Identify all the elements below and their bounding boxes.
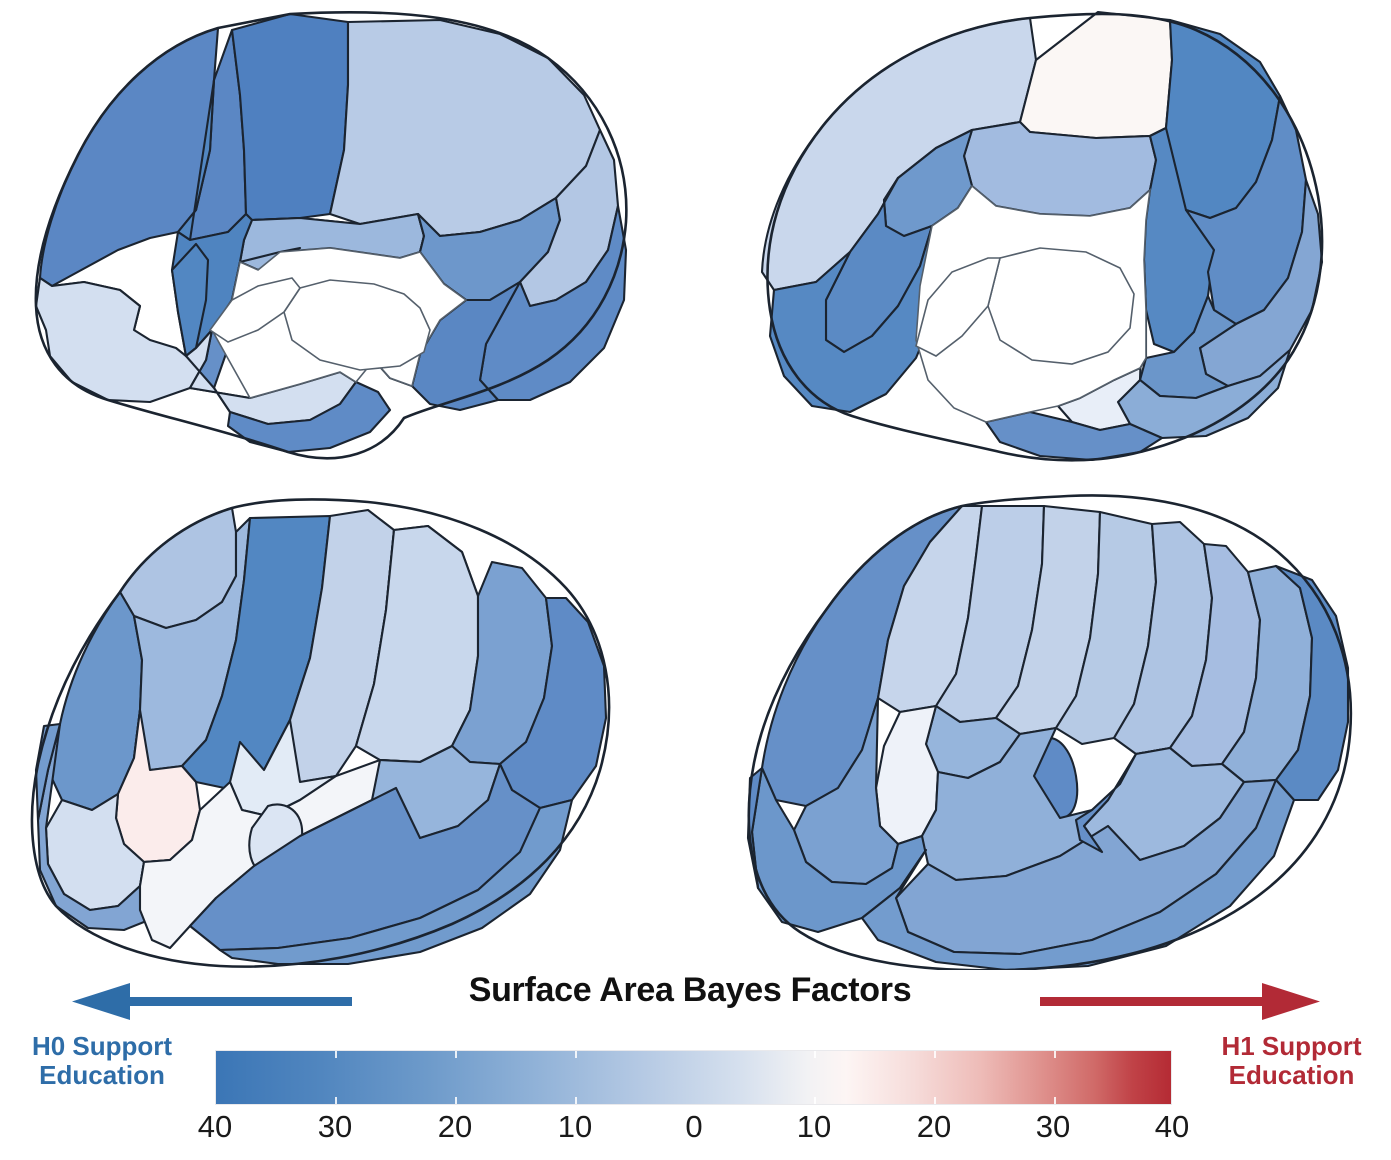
colorbar-tick-label: 30 [300,1109,370,1145]
colorbar-tick-label: 40 [1137,1109,1207,1145]
colorbar-tick [814,1051,816,1058]
brain-view-left-hemisphere-lateral [0,470,700,970]
h1-support-line1: H1 Support [1192,1032,1391,1061]
colorbar-tick-label: 30 [1018,1109,1088,1145]
subcortical-inner-boundary [988,248,1134,364]
colorbar-tick [934,1097,936,1104]
colorbar-tick [335,1051,337,1058]
colorbar-tick-label: 10 [540,1109,610,1145]
colorbar-tick-labels: 40 30 20 10 0 10 20 30 40 [0,1109,1391,1155]
arrow-right-icon [1040,982,1320,1022]
colorbar-tick [575,1097,577,1104]
legend-title: Surface Area Bayes Factors [400,971,980,1010]
h0-support-label: H0 Support Education [4,1032,200,1090]
colorbar-gradient [215,1050,1172,1105]
brain-bayes-factor-figure: Surface Area Bayes Factors H0 Support Ed… [0,0,1391,1160]
colorbar-tick [1054,1051,1056,1058]
h1-support-line2: Education [1192,1061,1391,1090]
colorbar-tick-label: 0 [659,1109,729,1145]
colorbar-tick-label: 10 [779,1109,849,1145]
colorbar-legend: Surface Area Bayes Factors H0 Support Ed… [0,970,1391,1160]
colorbar-tick-label: 40 [180,1109,250,1145]
colorbar-tick [934,1051,936,1058]
h0-support-line2: Education [4,1061,200,1090]
colorbar-tick [455,1097,457,1104]
colorbar-tick-label: 20 [420,1109,490,1145]
colorbar-tick [814,1097,816,1104]
colorbar-tick [575,1051,577,1058]
colorbar-tick [335,1097,337,1104]
colorbar-tick-label: 20 [899,1109,969,1145]
colorbar-tick [1054,1097,1056,1104]
roi-paracentral [232,14,348,220]
arrow-left-icon [72,982,352,1022]
roi-posteriorcingulate [964,122,1156,216]
h1-support-label: H1 Support Education [1192,1032,1391,1090]
h0-support-line1: H0 Support [4,1032,200,1061]
brain-view-right-hemisphere-lateral [700,470,1391,970]
colorbar-tick [455,1051,457,1058]
brain-view-left-hemisphere-medial [0,0,700,470]
roi-paracentral [1020,12,1172,138]
brain-view-right-hemisphere-medial [700,0,1391,470]
